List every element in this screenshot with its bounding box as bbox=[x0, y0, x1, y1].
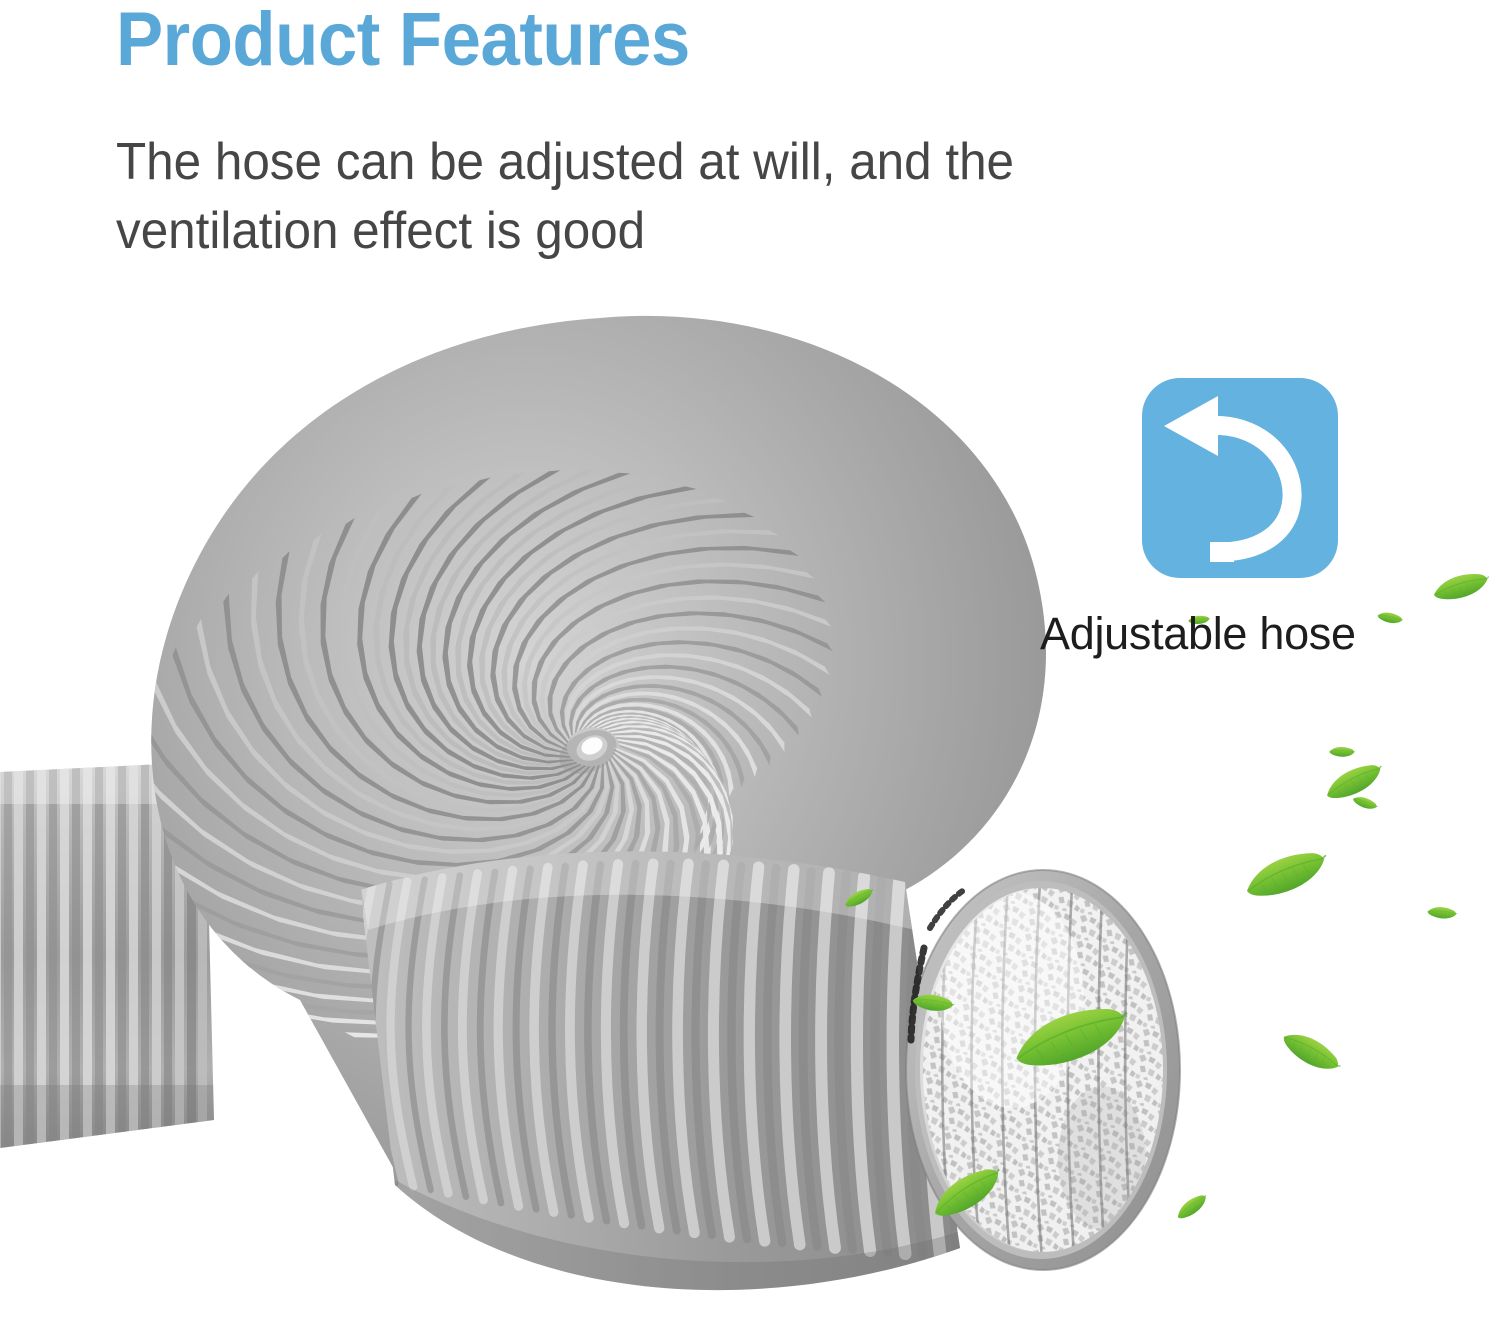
page-subtitle-line-1: The hose can be adjusted at will, and th… bbox=[116, 128, 1256, 197]
leaf-icon bbox=[1168, 1184, 1216, 1231]
rotate-counterclockwise-icon bbox=[1142, 378, 1338, 578]
leaf-icon bbox=[1006, 995, 1136, 1081]
leaf-icon bbox=[1371, 595, 1409, 641]
leaf-icon bbox=[1344, 778, 1387, 827]
leaf-icon bbox=[1421, 883, 1463, 943]
hose-mouth bbox=[906, 870, 1180, 1270]
feature-label: Adjustable hose bbox=[1040, 608, 1356, 660]
hose-left-segment bbox=[0, 750, 230, 1165]
leaf-icon bbox=[905, 970, 961, 1035]
page-title: Product Features bbox=[116, 2, 690, 78]
leaf-icon bbox=[1325, 726, 1359, 778]
leaf-icon bbox=[841, 883, 878, 913]
product-feature-banner: Product Features The hose can be adjuste… bbox=[0, 0, 1500, 1344]
page-subtitle-line-2: ventilation effect is good bbox=[116, 197, 1256, 266]
page-subtitle: The hose can be adjusted at will, and th… bbox=[116, 128, 1256, 265]
leaf-icon bbox=[1430, 568, 1492, 606]
leaf-icon bbox=[1270, 1012, 1352, 1092]
leaf-icon bbox=[1319, 755, 1389, 808]
hose-neck-segment bbox=[355, 843, 975, 1319]
leaf-icon bbox=[919, 1149, 1015, 1237]
leaf-icon bbox=[1228, 842, 1344, 907]
hose-coil bbox=[118, 316, 1046, 1281]
